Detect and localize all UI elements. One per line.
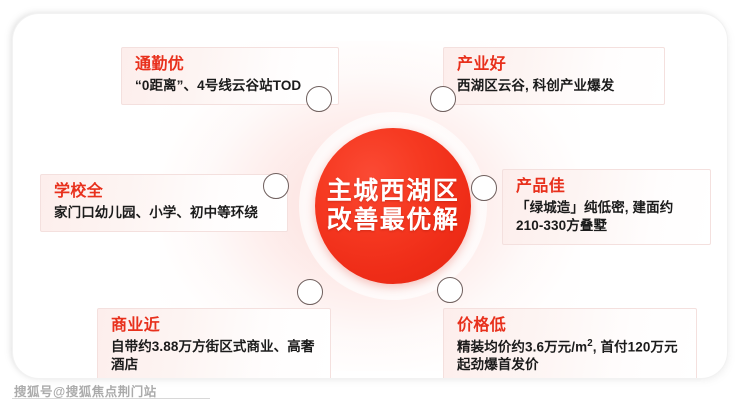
fact-box-price: 价格低 精装均价约3.6万元/m2, 首付120万元起劲爆首发价: [443, 308, 697, 378]
connector-dot-bottom-left: [297, 279, 323, 305]
infographic-canvas: 主城西湖区 改善最优解 通勤优 “0距离”、4号线云谷站TOD 产业好 西湖区云…: [0, 0, 740, 408]
fact-box-commute-title: 通勤优: [135, 55, 327, 75]
connector-dot-top-left: [306, 86, 332, 112]
center-badge: 主城西湖区 改善最优解: [315, 128, 471, 284]
fact-box-industry-title: 产业好: [457, 55, 653, 75]
fact-box-school-body: 家门口幼儿园、小学、初中等环绕: [54, 204, 276, 222]
center-title-line1: 主城西湖区: [327, 177, 460, 206]
fact-box-industry: 产业好 西湖区云谷, 科创产业爆发: [443, 47, 665, 105]
connector-dot-bottom-right: [437, 277, 463, 303]
fact-box-product-body: 「绿城造」纯低密, 建面约210-330方叠墅: [516, 199, 699, 235]
center-title-line2: 改善最优解: [327, 206, 460, 235]
fact-box-commute-body: “0距离”、4号线云谷站TOD: [135, 77, 327, 95]
price-body-prefix: 精装均价约3.6万元/m: [457, 340, 587, 355]
fact-box-price-title: 价格低: [457, 316, 685, 336]
fact-box-price-body: 精装均价约3.6万元/m2, 首付120万元起劲爆首发价: [457, 338, 685, 374]
watermark-underline: [12, 398, 210, 399]
fact-box-school-title: 学校全: [54, 182, 276, 202]
fact-box-business-title: 商业近: [111, 316, 319, 336]
connector-dot-left: [263, 173, 289, 199]
fact-box-product: 产品佳 「绿城造」纯低密, 建面约210-330方叠墅: [502, 169, 711, 245]
fact-box-business: 商业近 自带约3.88万方街区式商业、高奢酒店: [97, 308, 331, 378]
infographic-panel: 主城西湖区 改善最优解 通勤优 “0距离”、4号线云谷站TOD 产业好 西湖区云…: [13, 14, 727, 378]
fact-box-business-body: 自带约3.88万方街区式商业、高奢酒店: [111, 338, 319, 374]
fact-box-school: 学校全 家门口幼儿园、小学、初中等环绕: [40, 174, 288, 232]
fact-box-industry-body: 西湖区云谷, 科创产业爆发: [457, 77, 653, 95]
fact-box-product-title: 产品佳: [516, 177, 699, 197]
connector-dot-top-right: [430, 86, 456, 112]
connector-dot-right: [471, 175, 497, 201]
